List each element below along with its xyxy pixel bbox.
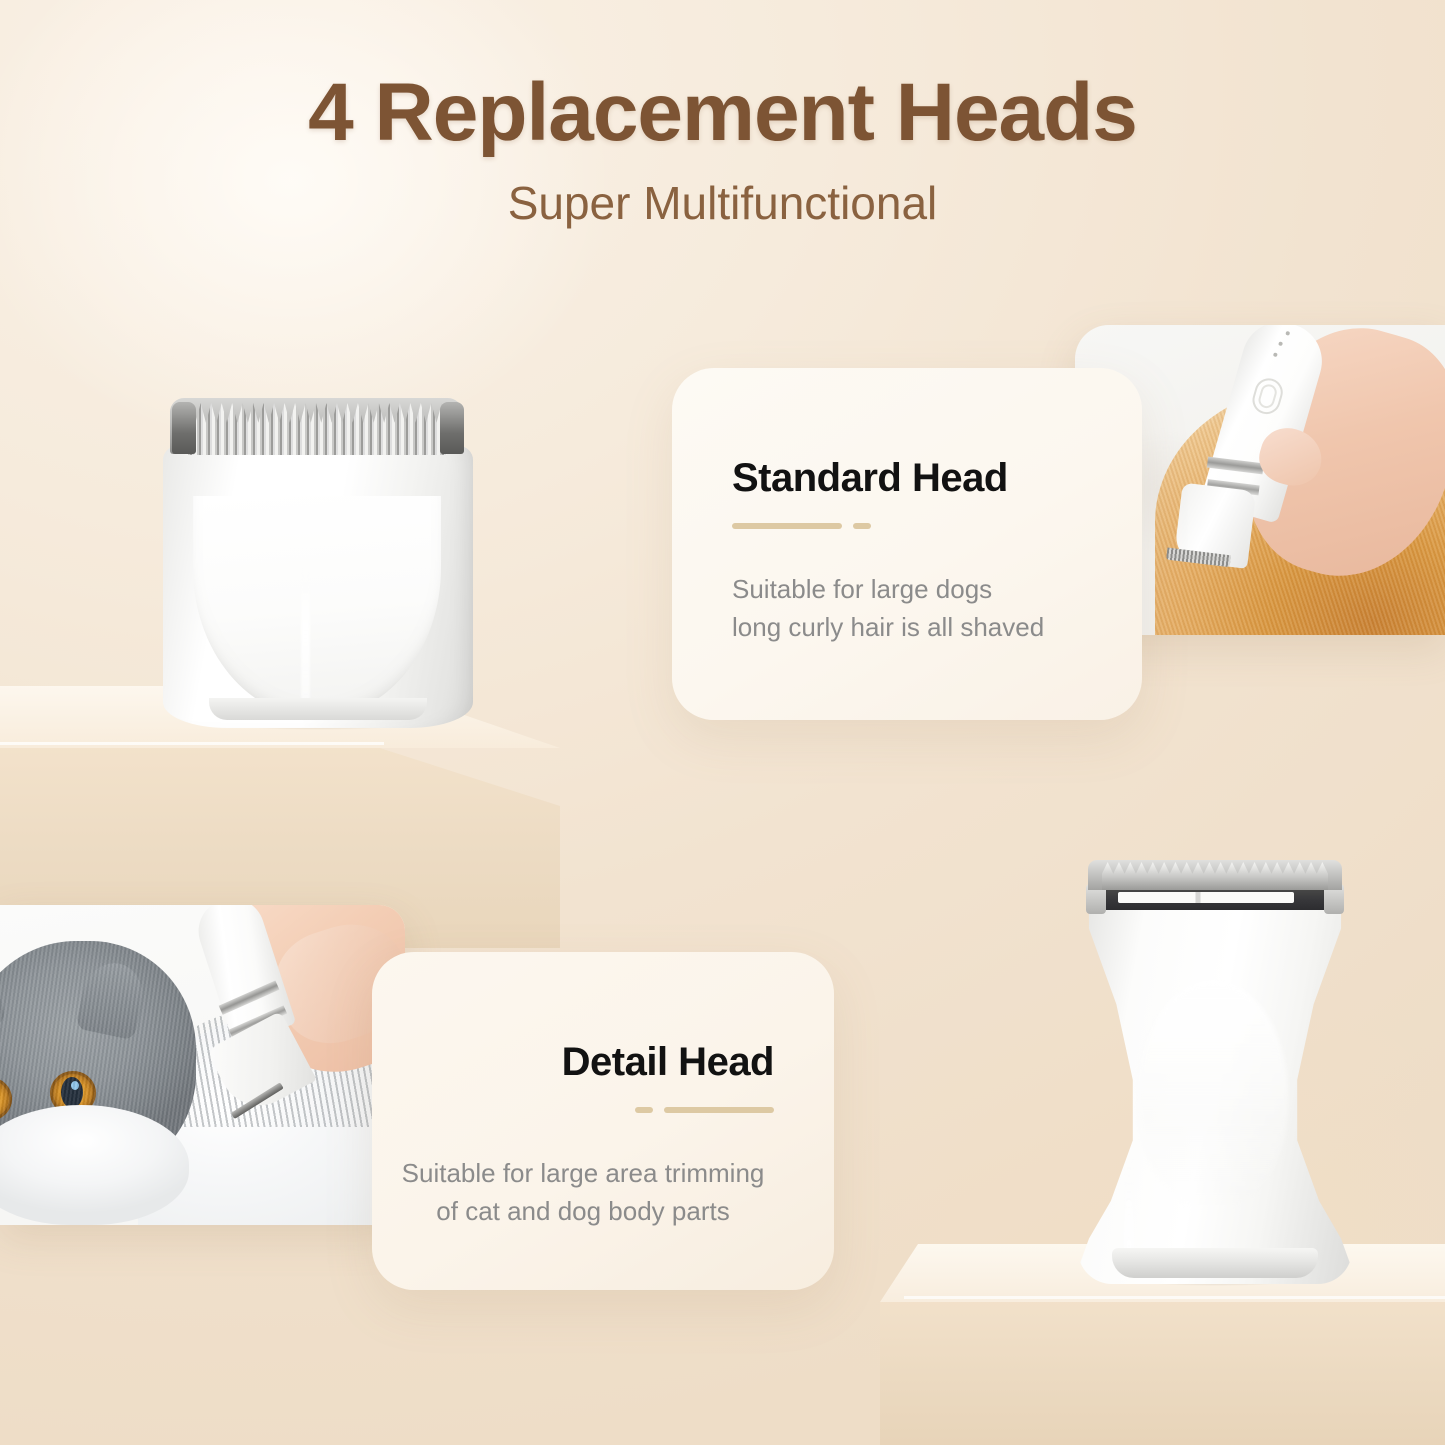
card-standard-accent — [732, 523, 1142, 529]
cat-ear-right — [75, 958, 149, 1041]
pedestal-left-edge — [0, 742, 384, 745]
cat-eye-left — [0, 1077, 12, 1121]
description-line: Suitable for large dogs — [732, 571, 1142, 609]
standard-head-cap-left — [172, 402, 196, 454]
page-title: 4 Replacement Heads — [0, 66, 1445, 160]
card-detail-description: Suitable for large area trimming of cat … — [372, 1155, 794, 1230]
product-feature-banner: 4 Replacement Heads Super Multifunctiona… — [0, 0, 1445, 1445]
cat-ear-left — [0, 952, 7, 1038]
accent-dash-long — [732, 523, 842, 529]
card-standard-title: Standard Head — [732, 456, 1142, 501]
card-detail-title: Detail Head — [372, 1040, 774, 1085]
card-standard-description: Suitable for large dogs long curly hair … — [732, 571, 1142, 646]
pedestal-right-edge — [904, 1296, 1445, 1299]
standard-head-shell — [163, 446, 473, 728]
detail-head-gloss — [1138, 980, 1288, 1210]
product-detail-head — [1078, 860, 1352, 1284]
page-subtitle: Super Multifunctional — [0, 176, 1445, 230]
standard-head-base — [209, 698, 427, 720]
product-standard-head — [163, 398, 473, 728]
detail-head-base — [1112, 1248, 1318, 1278]
description-line: Suitable for large area trimming — [372, 1155, 794, 1193]
pedestal-right-face — [880, 1298, 1445, 1445]
accent-dash-short — [635, 1107, 653, 1113]
standard-head-scoop — [193, 496, 441, 718]
standard-head-cap-right — [440, 402, 464, 454]
card-standard-head: Standard Head Suitable for large dogs lo… — [672, 368, 1142, 720]
card-detail-head: Detail Head Suitable for large area trim… — [372, 952, 834, 1290]
detail-head-blade-bar — [1100, 888, 1328, 910]
accent-dash-long — [664, 1107, 774, 1113]
header: 4 Replacement Heads Super Multifunctiona… — [0, 0, 1445, 230]
accent-dash-short — [853, 523, 871, 529]
photo-cat-grooming — [0, 905, 405, 1225]
description-line: long curly hair is all shaved — [732, 609, 1142, 647]
card-detail-accent — [372, 1107, 774, 1113]
description-line: of cat and dog body parts — [372, 1193, 794, 1231]
